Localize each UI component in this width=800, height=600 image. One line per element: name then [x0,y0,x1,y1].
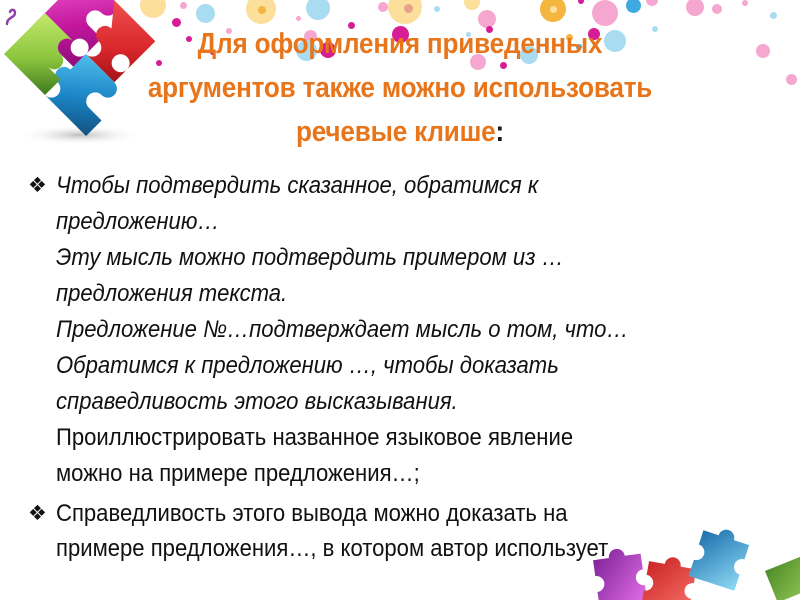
confetti-dot [258,6,266,14]
body-line: справедливость этого высказывания. [56,384,722,420]
confetti-dot [180,2,187,9]
confetti-dot [756,44,770,58]
confetti-dot [786,74,797,85]
title-line-1: Для оформления приведенных [85,22,715,66]
slide-body: ❖ Чтобы подтвердить сказанное, обратимся… [28,168,780,566]
body-line: Проиллюстрировать названное языковое явл… [56,420,722,456]
body-line: можно на примере предложения…; [56,456,722,492]
squiggle-icon [4,6,30,32]
body-line: примере предложения…, в котором автор ис… [56,531,722,566]
confetti-dot [686,0,704,16]
confetti-dot [770,12,777,19]
slide-title: Для оформления приведенных аргументов та… [50,22,750,154]
confetti-dot [196,4,215,23]
confetti-dot [434,6,440,12]
confetti-dot [646,0,658,6]
confetti-dot [550,6,557,13]
body-line: Обратимся к предложению …, чтобы доказат… [56,348,722,384]
title-line-3: речевые клише: [85,110,715,154]
title-line-2: аргументов также можно использовать [85,66,715,110]
confetti-dot [296,16,301,21]
confetti-dot [578,0,584,4]
confetti-dot [404,4,413,13]
body-line: предложению… [56,204,722,240]
body-line: Эту мысль можно подтвердить примером из … [56,240,722,276]
slide-canvas: Для оформления приведенных аргументов та… [0,0,800,600]
confetti-dot [140,0,166,18]
title-colon: : [495,116,504,148]
list-item: ❖ Справедливость этого вывода можно дока… [28,496,780,566]
body-line: Предложение №…подтверждает мысль о том, … [56,312,722,348]
list-item: ❖ Чтобы подтвердить сказанное, обратимся… [28,168,780,492]
confetti-dot [246,0,276,24]
confetti-dot [540,0,566,22]
confetti-dot [388,0,422,24]
confetti-dot [378,2,388,12]
diamond-bullet-icon: ❖ [28,168,47,204]
body-line: предложения текста. [56,276,722,312]
confetti-dot [464,0,480,10]
diamond-bullet-icon: ❖ [28,496,47,532]
body-line: Справедливость этого вывода можно доказа… [56,496,722,531]
confetti-dot [712,4,722,14]
body-line: Чтобы подтвердить сказанное, обратимся к [56,168,722,204]
confetti-dot [742,0,748,6]
title-line-3-text: речевые клише [296,116,496,148]
confetti-dot [626,0,641,13]
confetti-dot [306,0,330,20]
